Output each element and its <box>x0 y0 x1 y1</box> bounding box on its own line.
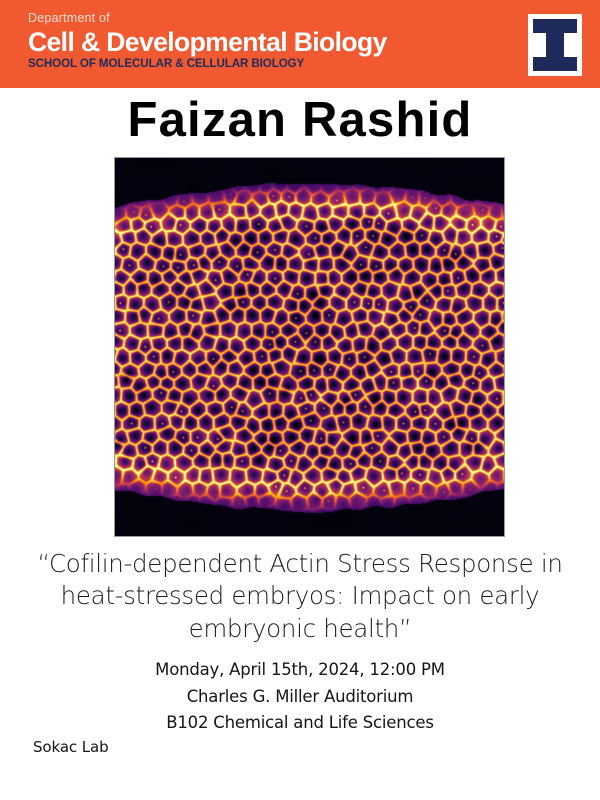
department-text-block: Department of Cell & Developmental Biolo… <box>28 12 387 70</box>
event-details: Monday, April 15th, 2024, 12:00 PM Charl… <box>0 657 600 737</box>
department-eyebrow: Department of <box>28 12 387 25</box>
microscopy-canvas <box>115 158 504 536</box>
school-name: SCHOOL OF MOLECULAR & CELLULAR BIOLOGY <box>28 58 387 70</box>
department-name: Cell & Developmental Biology <box>28 28 387 57</box>
event-venue: Charles G. Miller Auditorium <box>0 684 600 711</box>
event-datetime: Monday, April 15th, 2024, 12:00 PM <box>0 657 600 684</box>
header-banner: Department of Cell & Developmental Biolo… <box>0 0 600 88</box>
microscopy-image <box>114 157 505 537</box>
speaker-name: Faizan Rashid <box>0 96 600 145</box>
talk-title: “Cofilin-dependent Actin Stress Response… <box>8 548 592 645</box>
event-building: B102 Chemical and Life Sciences <box>0 710 600 737</box>
illinois-block-i-icon <box>528 14 582 76</box>
lab-credit: Sokac Lab <box>33 738 109 756</box>
